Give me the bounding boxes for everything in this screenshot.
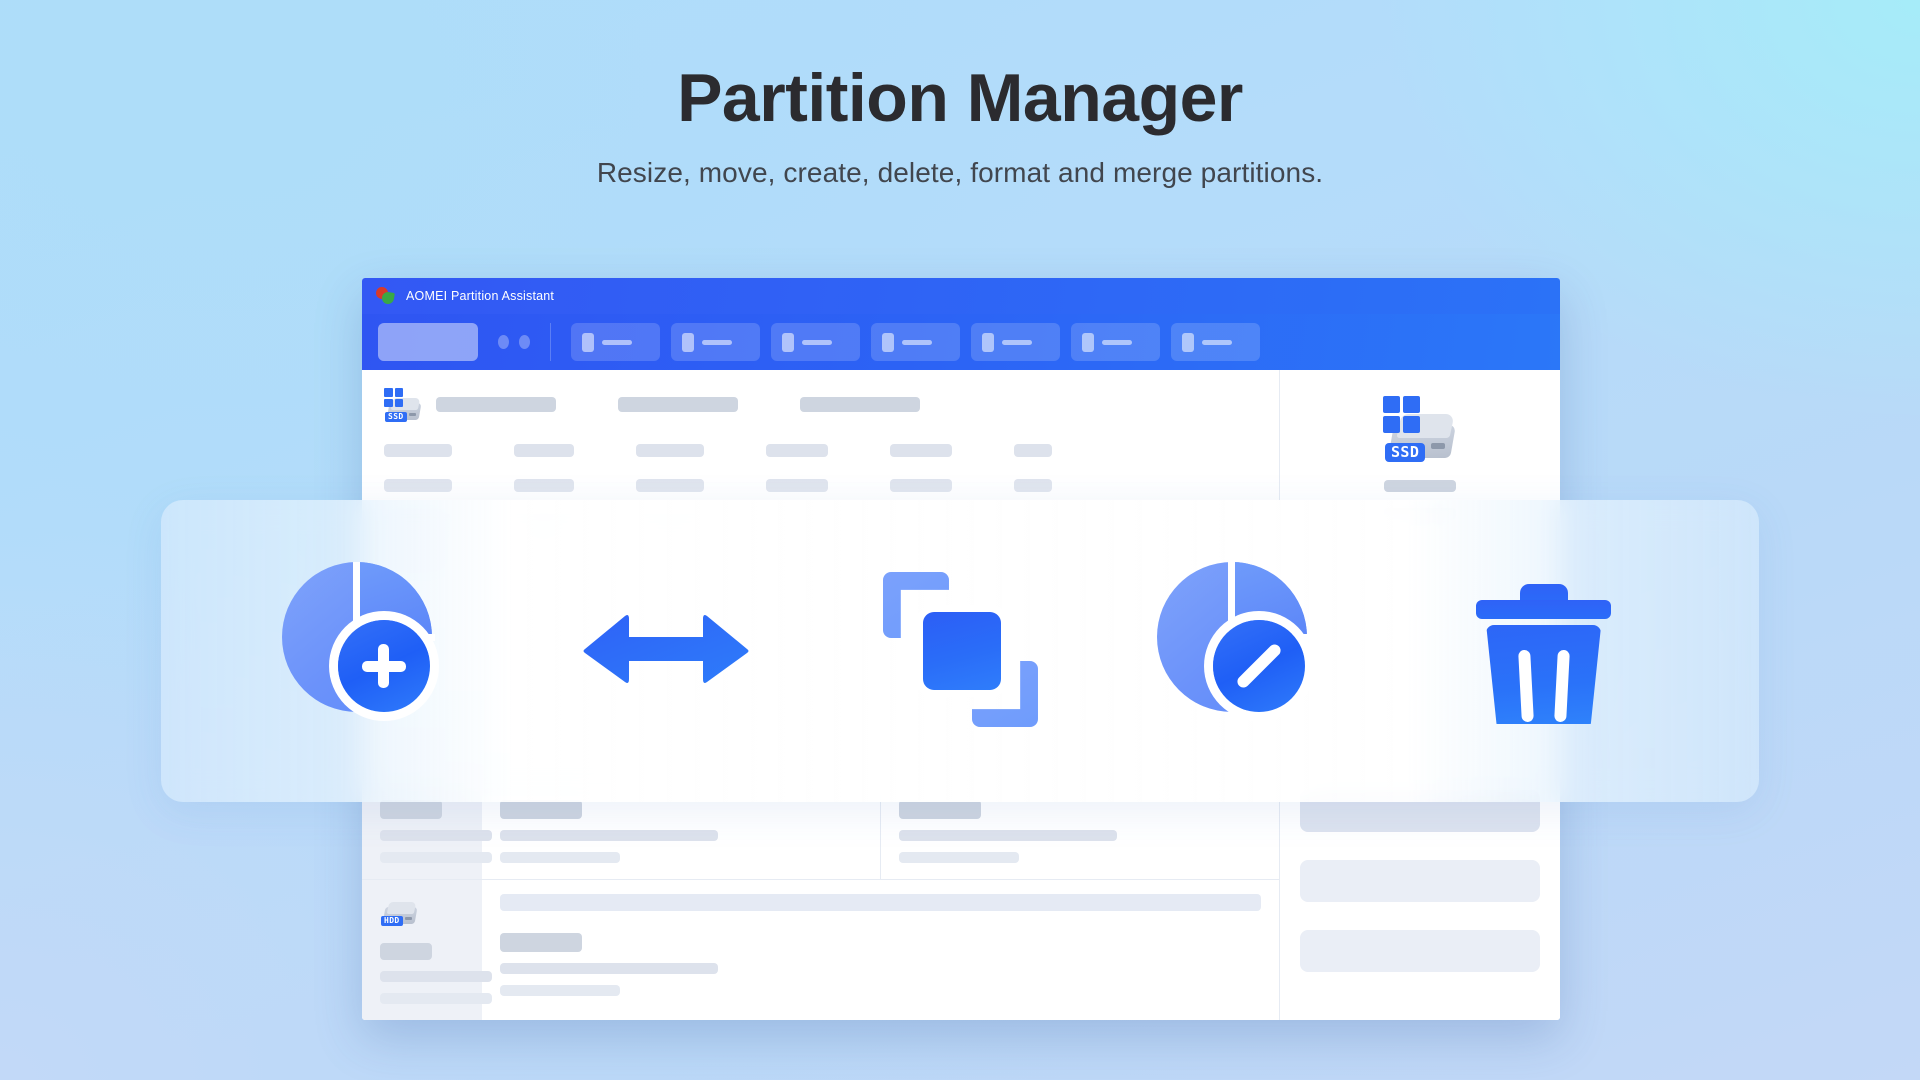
header-bar-2 (618, 397, 738, 412)
resize-move-partition-feature[interactable] (573, 556, 763, 746)
toolbar-button-6[interactable] (1071, 323, 1160, 361)
toolbar-button-icon-6 (1082, 333, 1094, 352)
toolbar-button-4[interactable] (871, 323, 960, 361)
plus-badge-icon (338, 620, 430, 712)
side-chip-1 (1384, 480, 1456, 492)
disk-block-2-aside: HDD (362, 880, 482, 1020)
toolbar-button-group (571, 323, 1260, 361)
disk-summary-header: SSD (362, 370, 1279, 422)
partition-cell[interactable] (482, 911, 1279, 1020)
window-titlebar: AOMEI Partition Assistant (362, 278, 1560, 314)
partition-full-strip[interactable] (500, 894, 1261, 911)
merge-squares-icon (883, 572, 1038, 727)
windows-logo-icon (384, 388, 403, 407)
page-subtitle: Resize, move, create, delete, format and… (0, 157, 1920, 189)
format-partition-feature[interactable] (1157, 556, 1347, 746)
header-bar-3 (800, 397, 920, 412)
toolbar-button-5[interactable] (971, 323, 1060, 361)
toolbar-button-icon-4 (882, 333, 894, 352)
windows-logo-icon (1383, 396, 1420, 433)
toolbar-dot-1[interactable] (498, 335, 509, 349)
table-row (384, 479, 1257, 492)
header-bar-1 (436, 397, 556, 412)
toolbar-button-icon-7 (1182, 333, 1194, 352)
page-title: Partition Manager (0, 62, 1920, 135)
app-toolbar (362, 314, 1560, 370)
toolbar-divider (550, 323, 551, 361)
hero-section: Partition Manager Resize, move, create, … (0, 0, 1920, 189)
toolbar-button-icon-2 (682, 333, 694, 352)
merge-partitions-feature[interactable] (865, 556, 1055, 746)
app-name-label: AOMEI Partition Assistant (406, 289, 554, 303)
toolbar-button-icon-5 (982, 333, 994, 352)
slash-badge-icon (1213, 620, 1305, 712)
ssd-drive-icon: SSD (384, 388, 422, 422)
delete-partition-feature[interactable] (1448, 556, 1638, 746)
pie-chart-plus-icon (282, 562, 432, 712)
side-card-2[interactable] (1300, 860, 1540, 902)
toolbar-button-3[interactable] (771, 323, 860, 361)
create-partition-feature[interactable] (282, 556, 472, 746)
feature-overlay-panel (161, 500, 1759, 802)
toolbar-button-2[interactable] (671, 323, 760, 361)
hdd-drive-icon: HDD (380, 892, 418, 926)
toolbar-button-icon-1 (582, 333, 594, 352)
toolbar-button-7[interactable] (1171, 323, 1260, 361)
side-card-3[interactable] (1300, 930, 1540, 972)
aomei-logo-icon (376, 287, 396, 305)
disk-block-2[interactable]: HDD (362, 879, 1279, 1020)
toolbar-button-icon-3 (782, 333, 794, 352)
ssd-drive-icon: SSD (1383, 396, 1457, 462)
pie-chart-slash-icon (1157, 562, 1307, 712)
toolbar-button-1[interactable] (571, 323, 660, 361)
toolbar-dot-2[interactable] (519, 335, 530, 349)
sidebar-drive-preview: SSD (1280, 370, 1560, 462)
toolbar-brand-block[interactable] (378, 323, 478, 361)
table-row (384, 444, 1257, 457)
trash-can-icon (1476, 578, 1611, 724)
double-arrow-horizontal-icon (581, 612, 751, 686)
sidebar-card-list (1300, 790, 1540, 972)
toolbar-dots (498, 335, 530, 349)
